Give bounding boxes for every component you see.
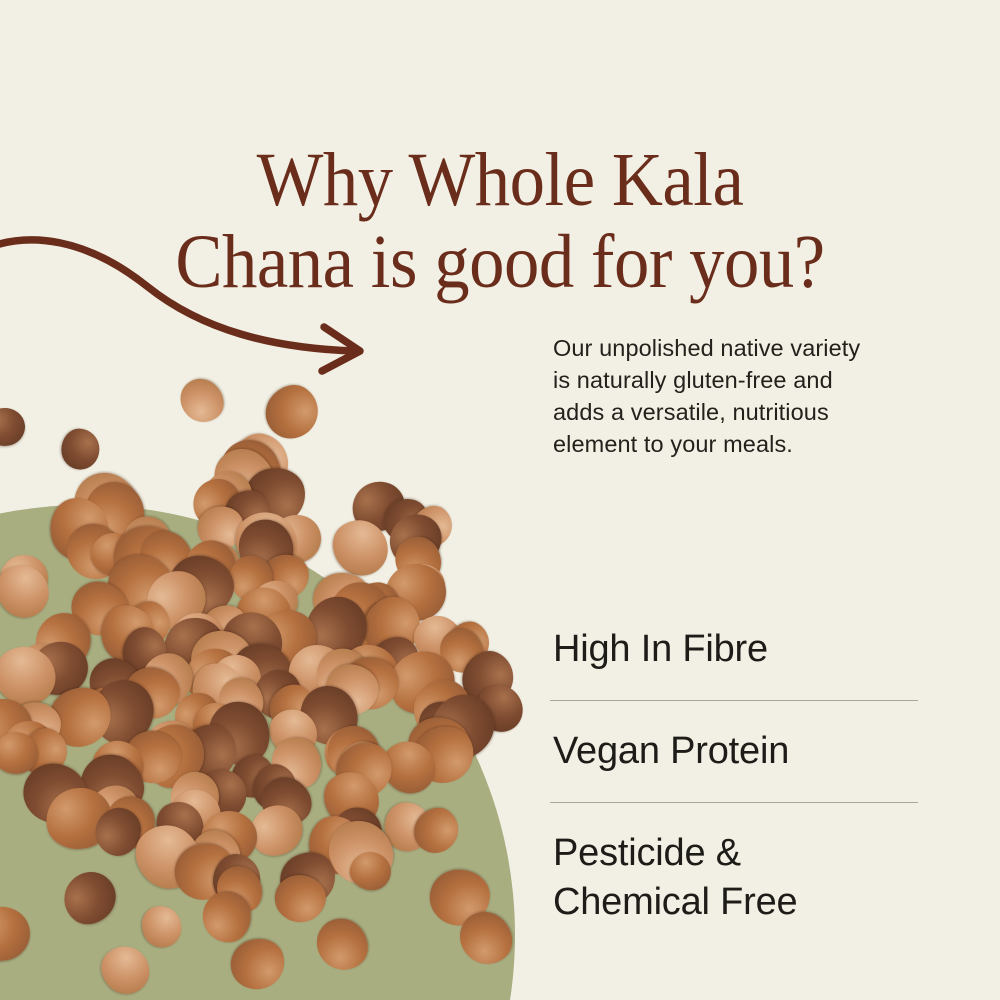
chickpea xyxy=(306,908,378,980)
kala-chana-chickpea-pile xyxy=(0,380,560,1000)
chickpea xyxy=(225,932,291,996)
page-title-line-1: Why Whole Kala xyxy=(35,139,965,221)
chickpea xyxy=(54,862,126,935)
body-paragraph: Our unpolished native variety is natural… xyxy=(553,332,925,460)
poster-canvas: Why Whole Kala Chana is good for you? Ou… xyxy=(0,0,1000,1000)
body-line-3: adds a versatile, nutritious xyxy=(553,399,829,425)
benefit-item-vegan-protein: Vegan Protein xyxy=(550,701,922,802)
benefit-item-pesticide-chemical-free: Pesticide & Chemical Free xyxy=(550,803,922,927)
chickpea xyxy=(137,900,188,953)
benefit-item-high-in-fibre: High In Fibre xyxy=(550,625,922,700)
body-line-4: element to your meals. xyxy=(553,431,793,457)
body-line-2: is naturally gluten-free and xyxy=(553,367,833,393)
chickpea xyxy=(92,937,159,1000)
chickpea xyxy=(201,890,250,943)
page-title-line-2: Chana is good for you? xyxy=(35,221,965,303)
benefits-list: High In Fibre Vegan Protein Pesticide & … xyxy=(550,625,922,927)
page-title: Why Whole Kala Chana is good for you? xyxy=(35,139,965,303)
chickpea xyxy=(0,406,26,448)
chickpea xyxy=(61,428,100,469)
chickpea xyxy=(172,370,233,431)
body-line-1: Our unpolished native variety xyxy=(553,335,860,361)
chickpea xyxy=(0,902,34,966)
